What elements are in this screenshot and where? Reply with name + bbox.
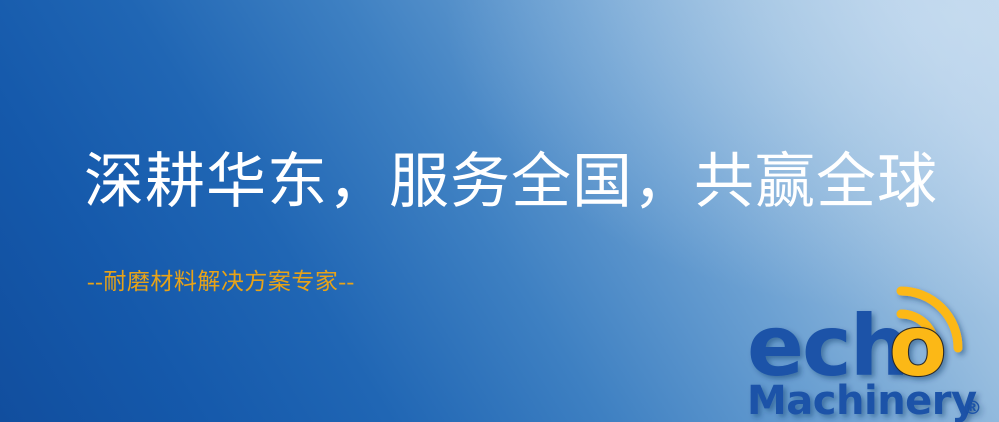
promo-banner: 深耕华东，服务全国，共赢全球 --耐磨材料解决方案专家-- ech o Mach… (0, 0, 999, 422)
banner-headline: 深耕华东，服务全国，共赢全球 (84, 152, 938, 212)
echo-machinery-logo: ech o Machinery ® (745, 296, 999, 422)
logo-wordmark-machinery: Machinery (747, 378, 977, 422)
registered-trademark-icon: ® (963, 397, 982, 419)
banner-subtitle: --耐磨材料解决方案专家-- (87, 270, 355, 293)
